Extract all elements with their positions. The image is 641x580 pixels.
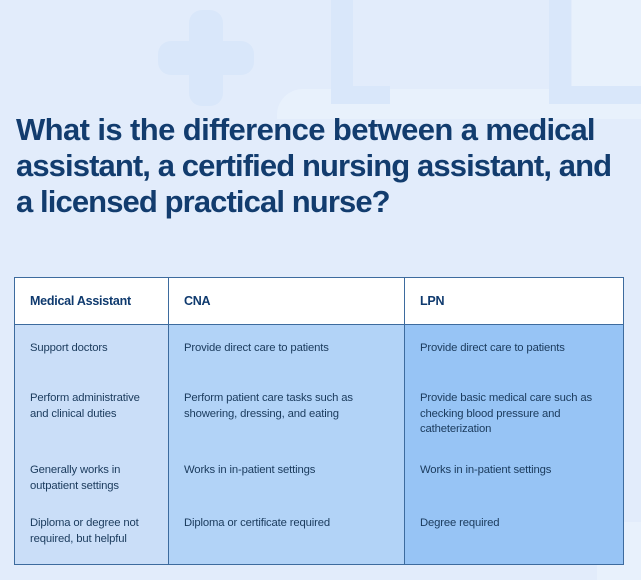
infographic-canvas: What is the difference between a medical… bbox=[0, 0, 641, 580]
page-title: What is the difference between a medical… bbox=[16, 112, 616, 220]
table-cell: Perform patient care tasks such as showe… bbox=[184, 391, 392, 463]
table-body: Support doctors Perform administrative a… bbox=[15, 325, 623, 564]
medical-cross-horizontal-bar bbox=[158, 41, 254, 75]
vertical-bar-watermark-right-foot bbox=[549, 86, 641, 104]
table-header-cell-medical-assistant: Medical Assistant bbox=[15, 278, 168, 324]
table-cell: Provide direct care to patients bbox=[420, 341, 611, 391]
table-header-row: Medical Assistant CNA LPN bbox=[15, 278, 623, 325]
table-cell: Works in in-patient settings bbox=[420, 463, 611, 516]
table-cell: Perform administrative and clinical duti… bbox=[30, 391, 156, 463]
vertical-bar-watermark-right bbox=[549, 0, 571, 98]
page-title-lead: What is the difference between a bbox=[16, 112, 485, 147]
table-header-cell-cna: CNA bbox=[168, 278, 404, 324]
vertical-bar-watermark-left bbox=[331, 0, 353, 104]
vertical-bar-watermark-left-foot bbox=[331, 86, 390, 104]
corner-panel-watermark-top-right bbox=[572, 0, 641, 88]
column-header-label: Medical Assistant bbox=[30, 294, 131, 308]
table-cell: Generally works in outpatient settings bbox=[30, 463, 156, 516]
table-cell: Provide basic medical care such as check… bbox=[420, 391, 611, 463]
table-column-lpn: Provide direct care to patients Provide … bbox=[404, 325, 623, 564]
table-cell: Provide direct care to patients bbox=[184, 341, 392, 391]
comparison-table: Medical Assistant CNA LPN Support doctor… bbox=[14, 277, 624, 565]
column-header-label: CNA bbox=[184, 294, 210, 308]
medical-cross-icon bbox=[158, 10, 254, 106]
table-cell: Support doctors bbox=[30, 341, 156, 391]
table-cell: Diploma or certificate required bbox=[184, 516, 392, 532]
table-column-medical-assistant: Support doctors Perform administrative a… bbox=[15, 325, 168, 564]
table-cell: Works in in-patient settings bbox=[184, 463, 392, 516]
table-header-cell-lpn: LPN bbox=[404, 278, 623, 324]
medical-cross-vertical-bar bbox=[189, 10, 223, 106]
column-header-label: LPN bbox=[420, 294, 444, 308]
table-column-cna: Provide direct care to patients Perform … bbox=[168, 325, 404, 564]
table-cell: Degree required bbox=[420, 516, 611, 532]
table-cell: Diploma or degree not required, but help… bbox=[30, 516, 156, 547]
